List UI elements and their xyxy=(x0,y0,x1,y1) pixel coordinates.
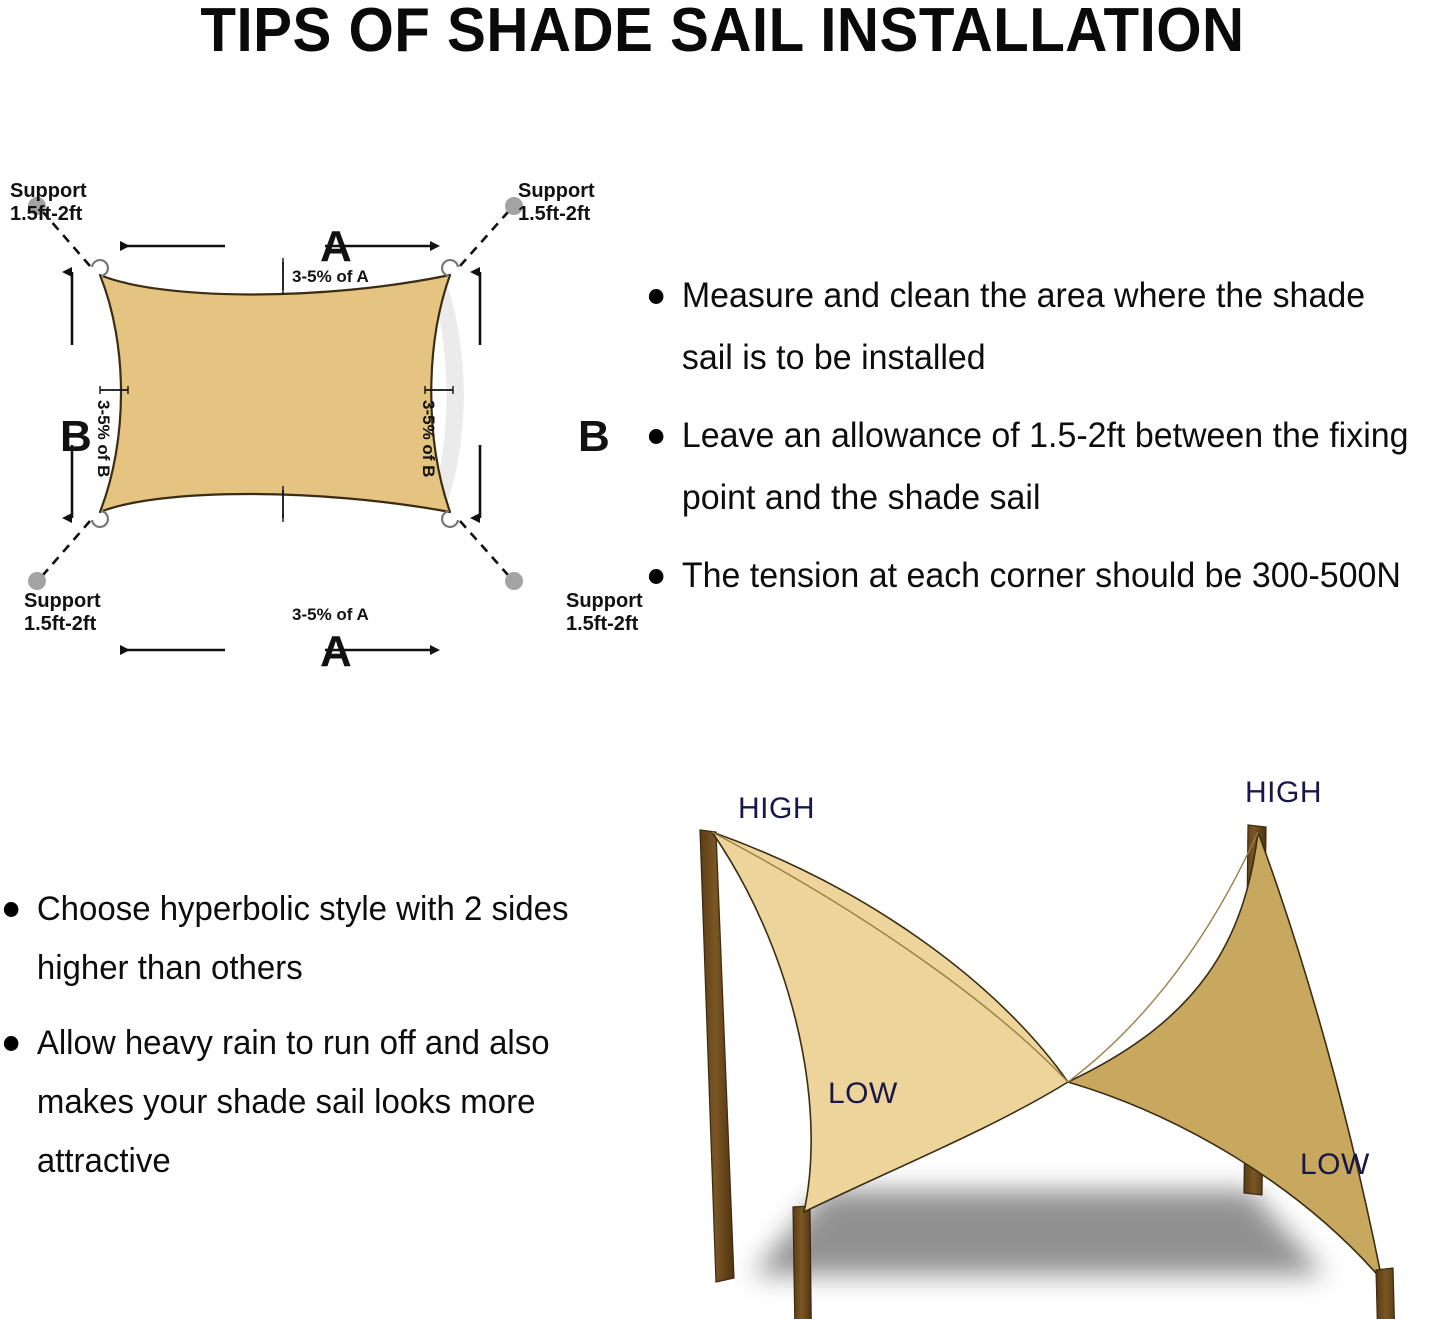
shade-sail-fabric xyxy=(100,275,450,512)
support-posts-front xyxy=(1376,1268,1398,1319)
tether-bottom-right xyxy=(460,521,508,575)
curve-label-bottom: 3-5% of A xyxy=(292,605,369,625)
list-item: Choose hyperbolic style with 2 sides hig… xyxy=(0,880,611,998)
d-ring-top-left xyxy=(92,260,108,276)
ground-shadow xyxy=(752,1190,1325,1275)
support-dot-bottom-right xyxy=(505,572,523,590)
page-title: TIPS OF SHADE SAIL INSTALLATION xyxy=(43,0,1401,62)
list-item: Leave an allowance of 1.5-2ft between th… xyxy=(645,405,1421,529)
post-high-left xyxy=(700,830,734,1282)
post-low-left xyxy=(793,1206,812,1319)
list-item: Measure and clean the area where the sha… xyxy=(645,265,1421,389)
hyperbolic-diagram-svg xyxy=(660,770,1445,1319)
tether-bottom-left xyxy=(43,521,90,575)
hyperbolic-sail-diagram: HIGH HIGH LOW LOW xyxy=(660,770,1445,1319)
d-ring-bottom-right xyxy=(442,511,458,527)
support-label-top-left: Support 1.5ft-2ft xyxy=(10,180,87,226)
curve-label-left: 3-5% of B xyxy=(93,400,113,477)
hyperbolic-tips-list: Choose hyperbolic style with 2 sides hig… xyxy=(0,880,630,1191)
sail-panel-front xyxy=(712,832,1068,1212)
support-dot-bottom-left xyxy=(28,572,46,590)
support-label-bottom-left: Support 1.5ft-2ft xyxy=(24,590,101,636)
d-ring-top-right xyxy=(442,260,458,276)
support-label-bottom-right: Support 1.5ft-2ft xyxy=(566,590,643,636)
list-item: Allow heavy rain to run off and also mak… xyxy=(0,1014,611,1191)
post-low-right xyxy=(1376,1268,1398,1319)
label-low-left: LOW xyxy=(828,1077,898,1111)
label-high-right: HIGH xyxy=(1245,776,1322,810)
curve-label-right: 3-5% of B xyxy=(418,400,438,477)
hyperbolic-tips-panel: Choose hyperbolic style with 2 sides hig… xyxy=(0,880,630,1207)
label-low-right: LOW xyxy=(1300,1148,1370,1182)
dimension-label-a-top: A xyxy=(320,222,352,272)
dimension-label-b-right: B xyxy=(578,412,610,462)
rectangular-sail-diagram: Support 1.5ft-2ft Support 1.5ft-2ft Supp… xyxy=(0,150,700,750)
label-high-left: HIGH xyxy=(738,792,815,826)
dimension-label-a-bottom: A xyxy=(320,627,352,677)
tether-top-right xyxy=(460,212,508,266)
curve-label-top: 3-5% of A xyxy=(292,267,369,287)
dimension-label-b-left: B xyxy=(60,412,92,462)
list-item: The tension at each corner should be 300… xyxy=(645,545,1421,607)
installation-tips-panel: Measure and clean the area where the sha… xyxy=(645,265,1445,623)
installation-tips-list: Measure and clean the area where the sha… xyxy=(645,265,1445,607)
support-label-top-right: Support 1.5ft-2ft xyxy=(518,180,595,226)
d-ring-bottom-left xyxy=(92,511,108,527)
